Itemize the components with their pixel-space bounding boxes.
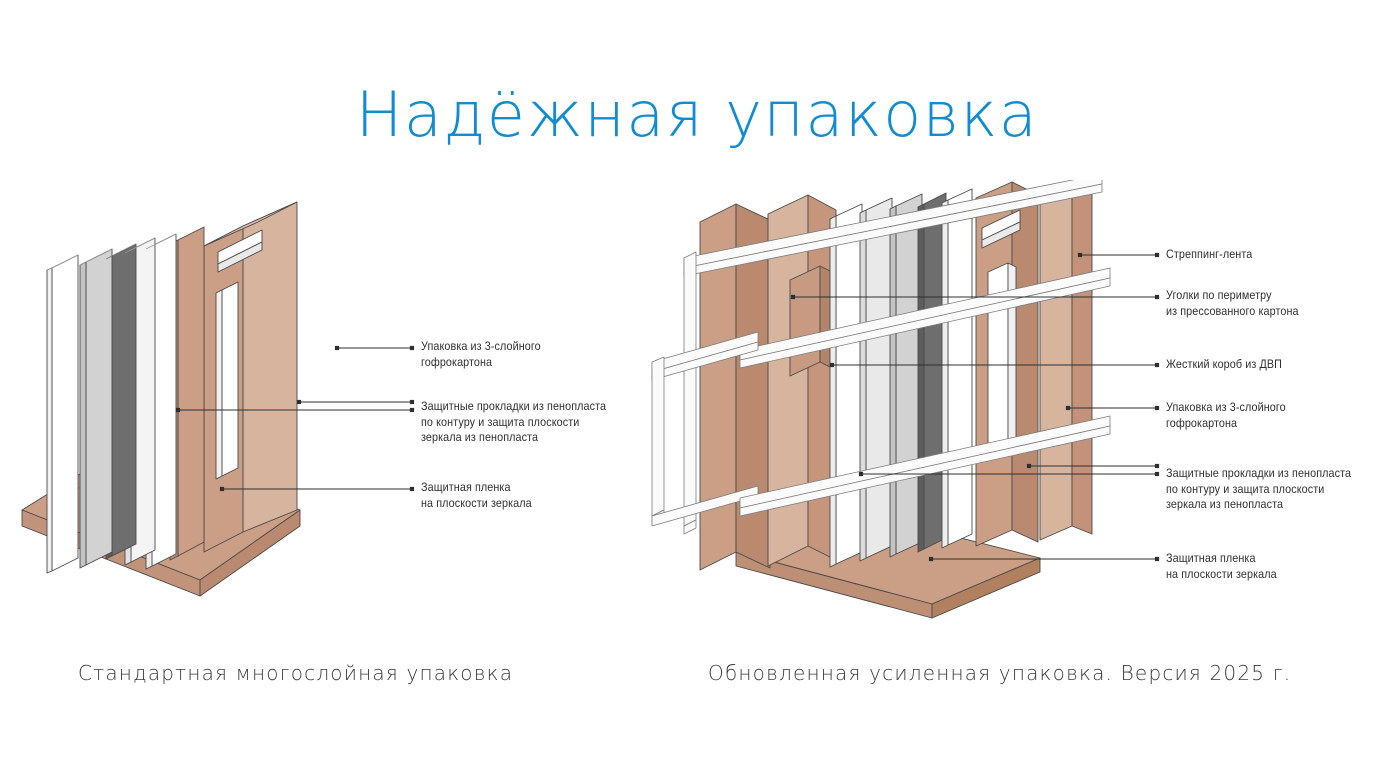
label-line: зеркала из пенопласта (421, 430, 606, 446)
label-left-foam-pads: Защитные прокладки из пенопластапо конту… (421, 399, 606, 446)
label-right-foam-pads: Защитные прокладки из пенопластапо конту… (1166, 466, 1351, 513)
label-line: Жесткий короб из ДВП (1166, 357, 1282, 373)
label-line: гофрокартона (1166, 416, 1286, 432)
leader-endpoint-dot (1155, 363, 1159, 367)
label-right-corner-protectors: Уголки по периметруиз прессованного карт… (1166, 288, 1299, 319)
label-line: Защитные прокладки из пенопласта (421, 399, 606, 415)
label-right-corrugated: Упаковка из 3-слойногогофрокартона (1166, 400, 1286, 431)
caption-reinforced-packaging: Обновленная усиленная упаковка. Версия 2… (708, 661, 1291, 685)
label-left-corrugated: Упаковка из 3-слойногогофрокартона (421, 339, 541, 370)
leader-endpoint-dot (410, 346, 414, 350)
label-line: из прессованного картона (1166, 304, 1299, 320)
label-line: Защитная пленка (421, 480, 532, 496)
caption-standard-packaging: Стандартная многослойная упаковка (78, 661, 513, 685)
label-line: зеркала из пенопласта (1166, 497, 1351, 513)
page-title: Надёжная упаковка (0, 78, 1394, 151)
label-line: Защитные прокладки из пенопласта (1166, 466, 1351, 482)
label-line: Упаковка из 3-слойного (421, 339, 541, 355)
label-left-protective-film: Защитная пленкана плоскости зеркала (421, 480, 532, 511)
leader-endpoint-dot (1155, 295, 1159, 299)
leader-endpoint-dot (1155, 472, 1159, 476)
label-line: Защитная пленка (1166, 551, 1277, 567)
label-line: гофрокартона (421, 355, 541, 371)
label-right-strapping-band: Стреппинг-лента (1166, 247, 1252, 263)
leader-endpoint-dot (1155, 253, 1159, 257)
leader-endpoint-dot (410, 487, 414, 491)
label-line: Упаковка из 3-слойного (1166, 400, 1286, 416)
standard-packaging-illustration (0, 180, 400, 620)
label-line: на плоскости зеркала (421, 496, 532, 512)
leader-endpoint-dot (410, 400, 414, 404)
leader-endpoint-dot (410, 408, 414, 412)
label-line: по контуру и защита плоскости (1166, 482, 1351, 498)
label-right-hdf-box: Жесткий короб из ДВП (1166, 357, 1282, 373)
leader-endpoint-dot (1155, 406, 1159, 410)
label-right-protective-film: Защитная пленкана плоскости зеркала (1166, 551, 1277, 582)
label-line: на плоскости зеркала (1166, 567, 1277, 583)
leader-endpoint-dot (1155, 464, 1159, 468)
leader-endpoint-dot (1155, 557, 1159, 561)
slide-canvas: Надёжная упаковка (0, 0, 1394, 779)
label-line: Уголки по периметру (1166, 288, 1299, 304)
label-line: по контуру и защита плоскости (421, 415, 606, 431)
label-line: Стреппинг-лента (1166, 247, 1252, 263)
reinforced-packaging-illustration (640, 180, 1120, 620)
